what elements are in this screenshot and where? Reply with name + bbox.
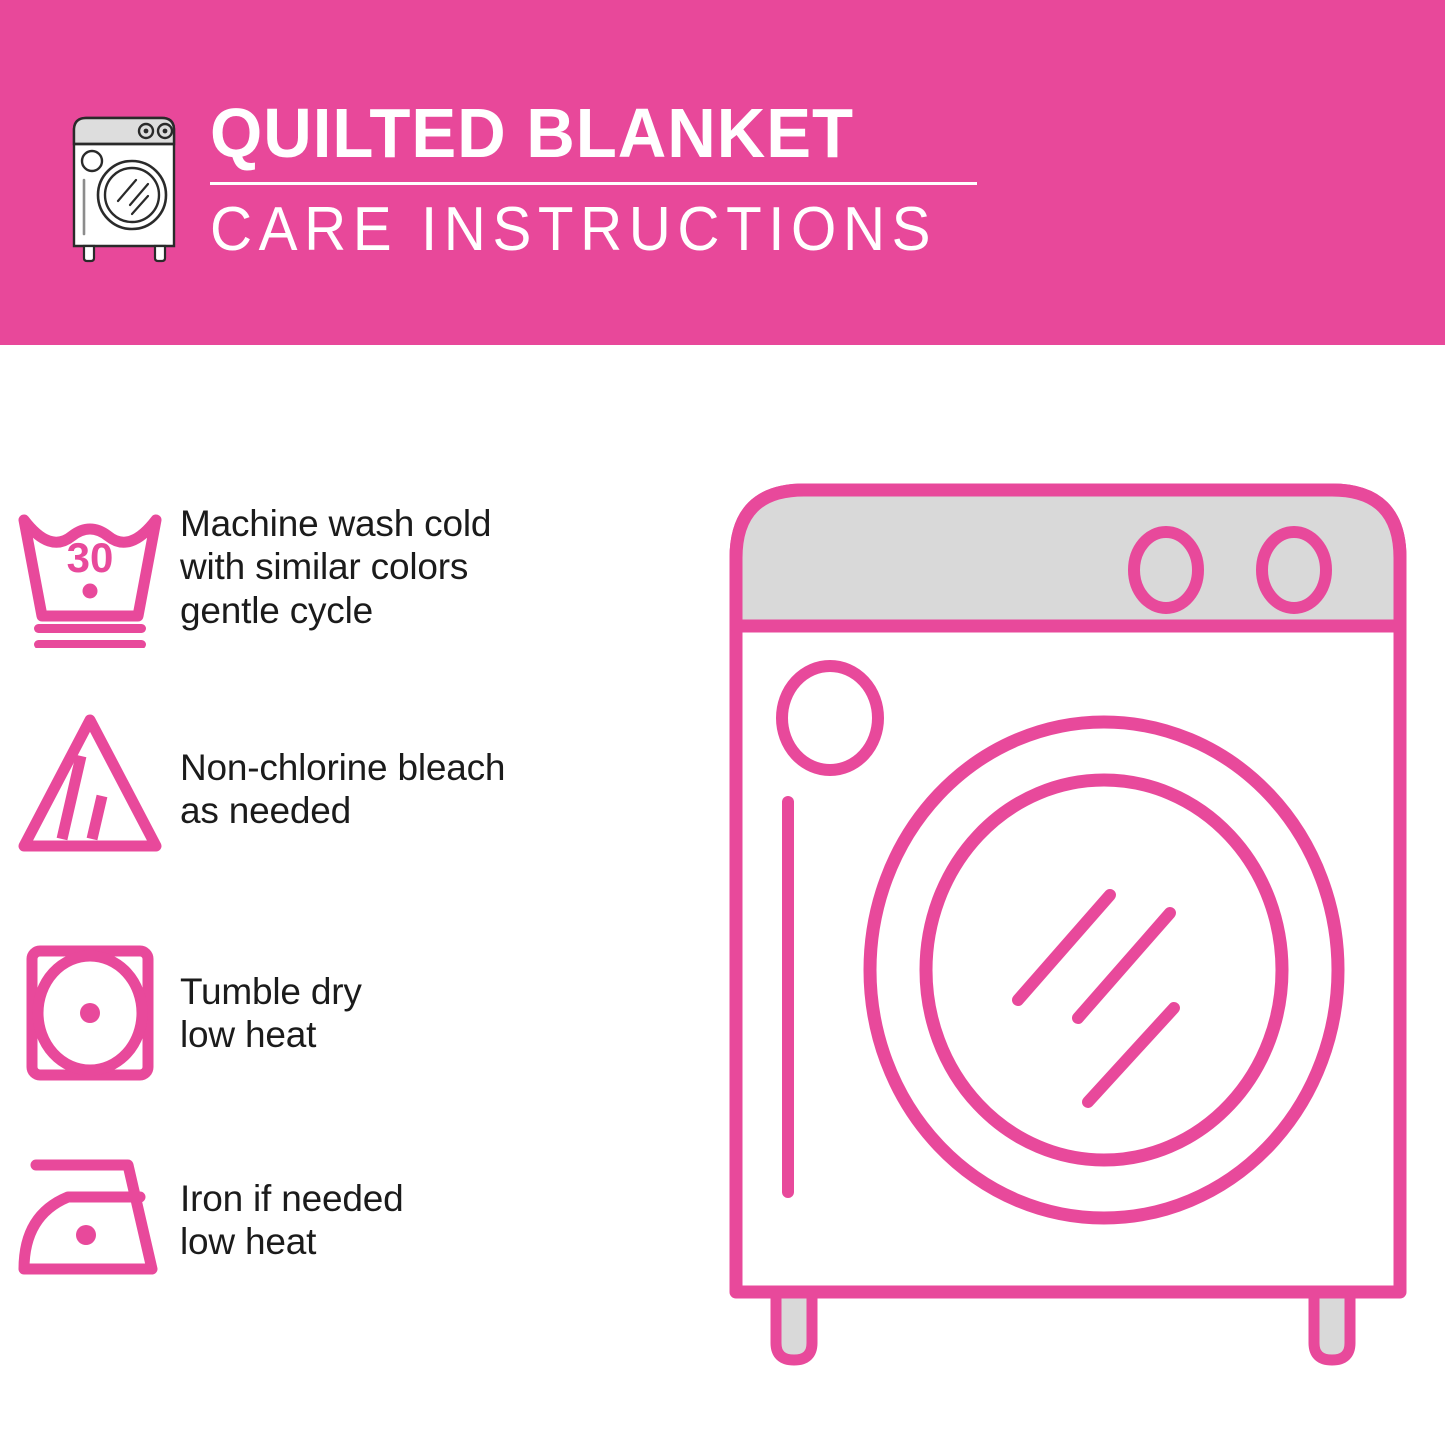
care-item-text: Non-chlorine bleach as needed [180,708,505,833]
machine-leg-left [776,1292,812,1360]
care-text-line: Tumble dry [180,970,362,1013]
care-symbol-wrapper: 30 [0,498,180,648]
care-item-iron: Iron if needed low heat [0,1145,700,1295]
washing-machine-graphic [718,470,1418,1370]
care-item-machine-wash: 30 Machine wash cold with similar colors… [0,498,700,648]
washing-machine-icon [60,104,188,264]
care-symbol-wrapper [0,1145,180,1295]
iron-icon [10,1145,170,1295]
wash-temperature-label: 30 [67,534,114,581]
machine-knob-1 [1134,532,1198,608]
header-titles: QUILTED BLANKET CARE INSTRUCTIONS [210,98,983,261]
header-content: QUILTED BLANKET CARE INSTRUCTIONS [60,98,983,264]
machine-leg-right [1314,1292,1350,1360]
washing-machine-illustration [718,470,1418,1370]
title-divider [210,182,977,185]
care-text-line: Iron if needed [180,1177,403,1220]
wash-tub-icon: 30 [10,498,170,648]
care-text-line: as needed [180,789,505,832]
care-text-line: with similar colors [180,545,491,588]
care-text-line: Non-chlorine bleach [180,746,505,789]
care-text-line: Machine wash cold [180,502,491,545]
tumble-dry-icon [10,938,170,1088]
page-title: QUILTED BLANKET [210,98,953,168]
bleach-triangle-icon [10,708,170,858]
care-item-text: Machine wash cold with similar colors ge… [180,498,491,632]
care-item-text: Tumble dry low heat [180,938,362,1057]
care-text-line: gentle cycle [180,589,491,632]
care-symbol-wrapper [0,708,180,858]
page-subtitle: CARE INSTRUCTIONS [210,199,937,261]
machine-indicator-circle [782,666,878,770]
care-instructions-list: 30 Machine wash cold with similar colors… [0,345,700,1445]
care-item-text: Iron if needed low heat [180,1145,403,1264]
machine-knob-2 [1262,532,1326,608]
care-symbol-wrapper [0,938,180,1088]
care-item-bleach: Non-chlorine bleach as needed [0,708,700,858]
care-item-tumble-dry: Tumble dry low heat [0,938,700,1088]
header-banner: QUILTED BLANKET CARE INSTRUCTIONS [0,0,1445,345]
care-text-line: low heat [180,1013,362,1056]
care-text-line: low heat [180,1220,403,1263]
machine-drum-inner [926,780,1282,1160]
